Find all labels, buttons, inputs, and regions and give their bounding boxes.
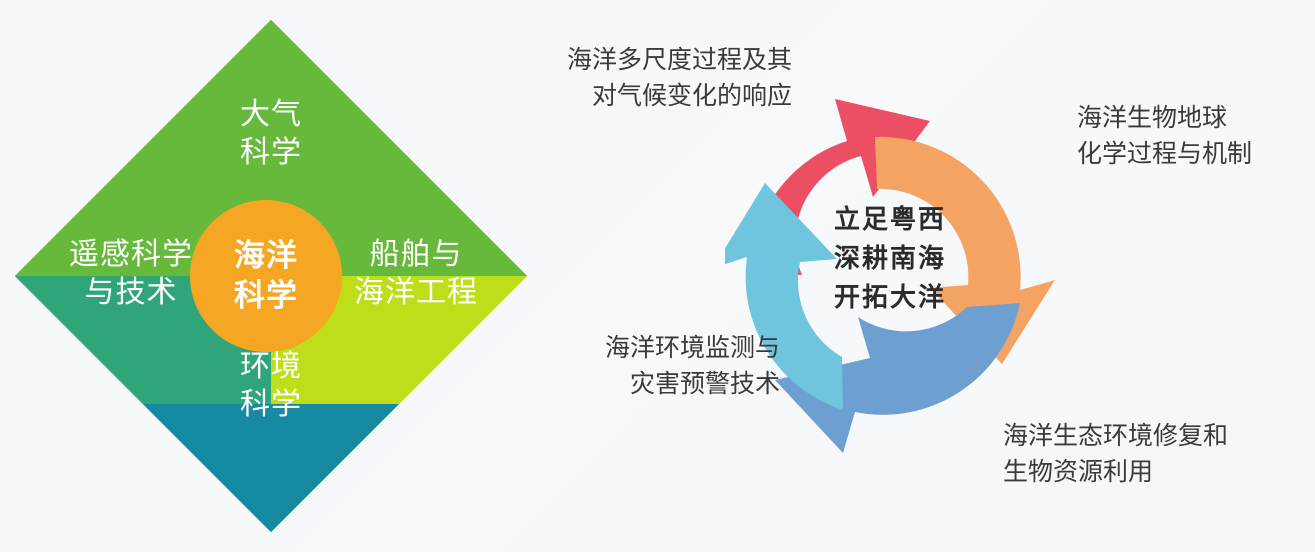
quadrant-bottom-final[interactable] xyxy=(143,404,399,532)
core-circle-label: 海洋 科学 xyxy=(234,236,298,317)
cycle-center-motto: 立足粤西 深耕南海 开拓大洋 xyxy=(770,200,1010,317)
diagram-canvas: 大气 科学 遥感科学 与技术 船舶与 海洋工程 环境 科学 海洋 科学 立足粤西… xyxy=(0,0,1315,552)
cycle-label-bottom-right: 海洋生态环境修复和 生物资源利用 xyxy=(1003,418,1315,491)
core-circle[interactable]: 海洋 科学 xyxy=(190,200,342,352)
cycle-label-bottom-left: 海洋环境监测与 灾害预警技术 xyxy=(500,330,780,403)
cycle-label-top-left: 海洋多尺度过程及其 对气候变化的响应 xyxy=(452,42,792,115)
cycle-label-top-right: 海洋生物地球 化学过程与机制 xyxy=(1077,100,1315,173)
